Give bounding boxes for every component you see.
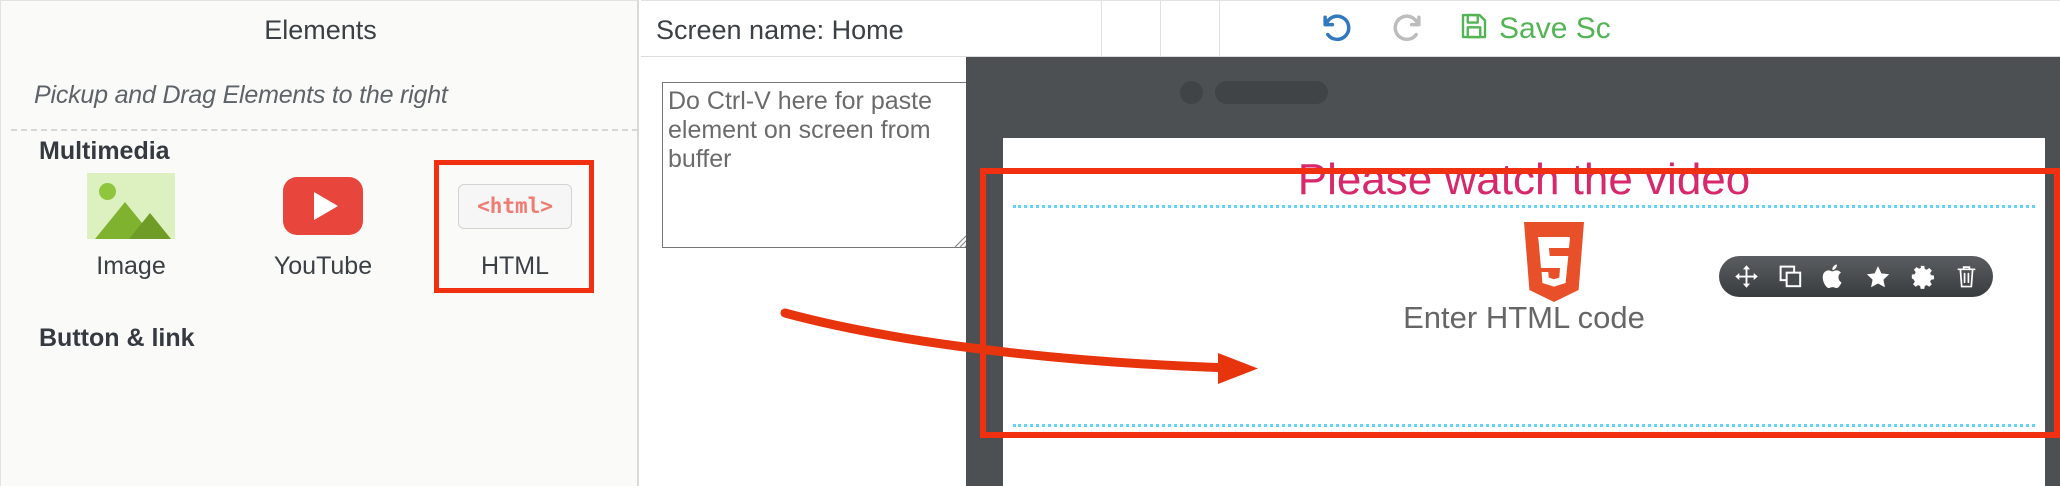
redo-icon [1388,7,1426,50]
paste-buffer-textarea[interactable] [662,82,970,248]
selection-border-bottom [1013,424,2035,427]
duplicate-icon[interactable] [1777,264,1803,290]
star-icon[interactable] [1865,264,1891,290]
panel-divider [11,129,638,131]
apple-icon[interactable] [1821,264,1847,290]
section-heading-multimedia: Multimedia [39,137,170,166]
elements-panel: Elements Pickup and Drag Elements to the… [0,0,639,486]
element-context-toolbar [1719,256,1993,297]
save-button-label: Save Sc [1499,12,1611,46]
selection-border-top [1013,205,2035,208]
trash-icon[interactable] [1953,264,1979,290]
element-tile-label: HTML [439,252,591,281]
undo-button[interactable] [1302,0,1372,57]
canvas-heading-text[interactable]: Please watch the video [1003,155,2045,205]
save-screen-button[interactable]: Save Sc [1443,0,1611,57]
html-element-placeholder-text: Enter HTML code [1003,300,2045,336]
section-heading-button-link: Button & link [39,324,195,353]
element-tile-label: Image [55,252,207,281]
device-camera-icon [1180,81,1203,104]
html-tag-icon: <html> [439,171,591,241]
element-tile-youtube[interactable]: YouTube [247,171,399,281]
toolbar-divider [1160,1,1161,57]
toolbar-divider [1219,1,1220,57]
undo-icon [1318,7,1356,50]
toolbar-divider [1101,1,1102,57]
html5-logo [1518,222,1590,302]
element-tile-image[interactable]: Image [55,171,207,281]
screen-name-label: Screen name: Home [656,15,904,46]
redo-button[interactable] [1372,0,1442,57]
html-tag-icon-text: <html> [458,184,572,229]
page-title: Elements [1,15,640,46]
gear-icon[interactable] [1909,264,1935,290]
panel-subtitle: Pickup and Drag Elements to the right [34,81,448,110]
device-speaker-icon [1215,81,1328,104]
image-placeholder-icon [55,171,207,241]
element-tile-html[interactable]: <html> HTML [439,171,591,281]
element-tile-label: YouTube [247,252,399,281]
youtube-play-icon [247,171,399,241]
move-icon[interactable] [1733,264,1759,290]
app-root: Elements Pickup and Drag Elements to the… [0,0,2060,486]
save-floppy-icon [1459,11,1489,46]
